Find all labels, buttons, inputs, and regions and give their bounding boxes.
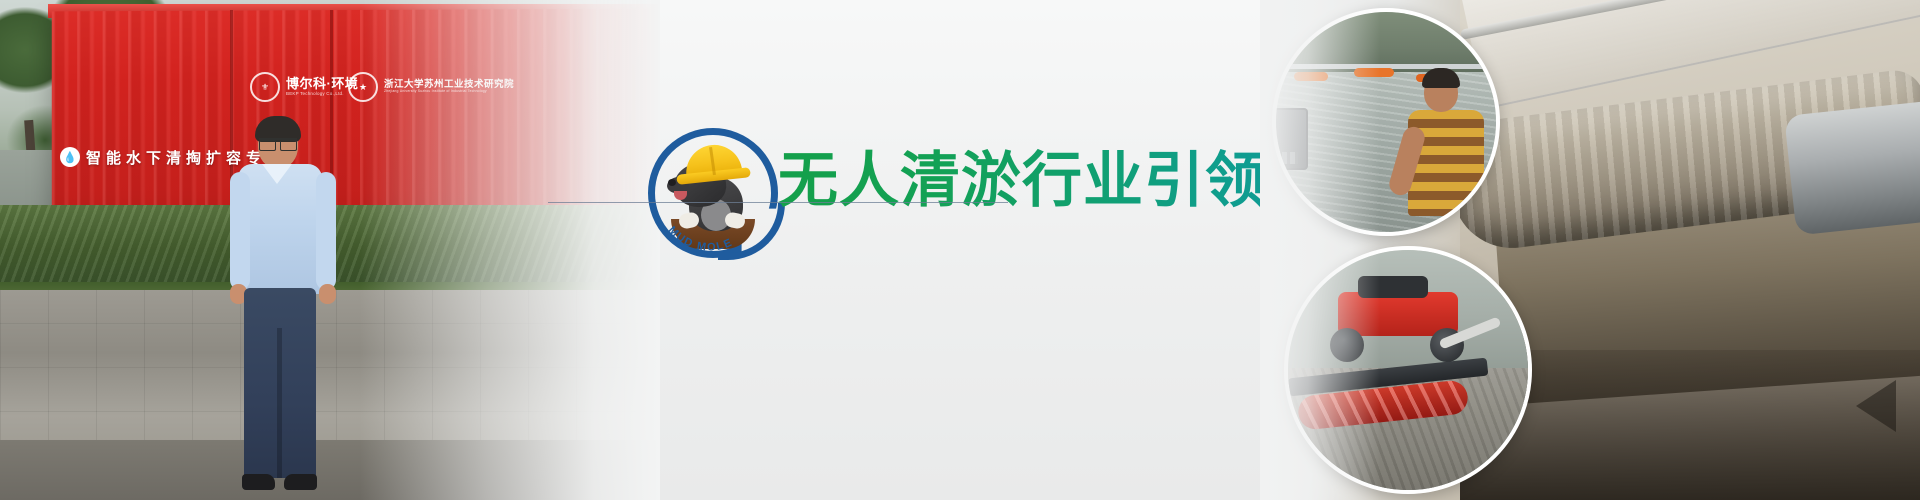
person-photo-subject [228,120,338,500]
company-logo[interactable]: MUD MOLE [648,128,778,258]
glasses-icon [259,138,297,149]
photo-operator-console [1272,8,1500,236]
logo-brand-text: MUD MOLE [666,224,735,253]
hero-banner: ⚜ 博尔科·环境 BEKP Technology Co.,Ltd. ★ 浙江大学… [0,0,1920,500]
control-console-case [1272,108,1308,170]
person-shoe-left [242,474,275,490]
photo-sludge-pipe [1460,0,1920,500]
person-shirt [238,164,322,294]
console-keypad [1272,152,1298,164]
arrow-marker-icon [1856,380,1896,432]
robot-wheel [1330,328,1364,362]
logo-brand-arc: MUD MOLE [648,128,778,258]
photo-dredging-robot [1284,246,1532,494]
pipe-metal-collar [1784,100,1920,235]
right-photo-group [1260,0,1920,500]
headline-divider [548,202,1008,203]
person-trousers [244,288,316,478]
operator-hair [1422,68,1460,88]
operator-figure [1394,52,1490,232]
brand-badge-icon: ⚜ [250,72,280,102]
banner-headline: 无人清淤行业引领者 [778,132,1327,219]
orange-float [1354,68,1394,77]
person-shoe-right [284,474,317,490]
robot-chassis [1318,272,1488,364]
center-content: MUD MOLE 无人清淤行业引领者 [660,0,1260,500]
left-photo-fade-mask [360,0,660,500]
container-brand-primary: ⚜ 博尔科·环境 BEKP Technology Co.,Ltd. [250,72,358,102]
robot-housing [1358,276,1428,298]
droplet-icon: 💧 [60,147,80,167]
operator-shirt [1408,110,1484,216]
person-hand-right [319,284,336,304]
orange-float [1294,72,1328,81]
person-arm-right [316,172,336,290]
left-photo: ⚜ 博尔科·环境 BEKP Technology Co.,Ltd. ★ 浙江大学… [0,0,660,500]
person-arm-left [230,172,250,290]
